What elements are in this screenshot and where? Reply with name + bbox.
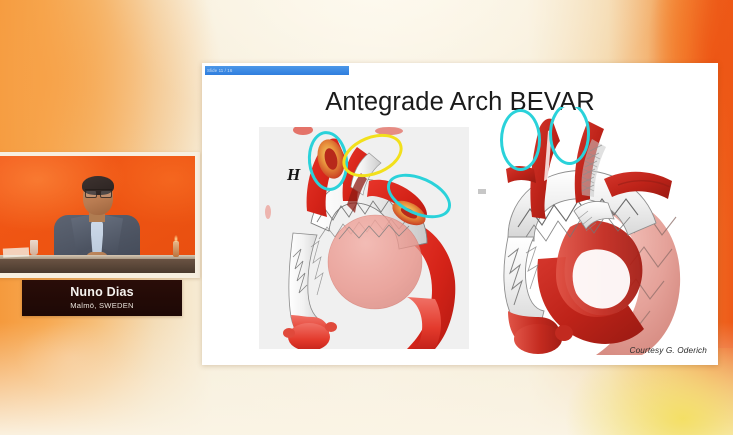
speaker-location: Malmö, SWEDEN — [70, 301, 134, 310]
figure-antegrade-arch-left: H — [259, 127, 469, 349]
slide-credit: Courtesy G. Oderich — [630, 346, 707, 355]
figure-label-h: H — [287, 165, 300, 185]
speaker-name: Nuno Dias — [70, 286, 134, 300]
slide-progress-bar[interactable]: Slide 11 / 16 — [205, 66, 405, 75]
aortic-arch-illustration-right — [478, 107, 704, 355]
slide-panel[interactable]: Slide 11 / 16 Antegrade Arch BEVAR — [202, 63, 718, 365]
speaker-video-frame — [0, 156, 195, 273]
aortic-arch-illustration-left — [259, 127, 469, 349]
papers — [3, 247, 29, 257]
speaker-name-card: Nuno Dias Malmö, SWEDEN — [22, 280, 182, 316]
stage-floor — [0, 259, 195, 273]
speaker-video-tile[interactable] — [0, 152, 200, 278]
water-glass — [30, 240, 38, 255]
eyeglasses-icon — [85, 189, 112, 195]
figure-antegrade-arch-right — [478, 107, 704, 355]
slide-progress-label: Slide 11 / 16 — [207, 66, 232, 75]
candle — [173, 241, 179, 257]
